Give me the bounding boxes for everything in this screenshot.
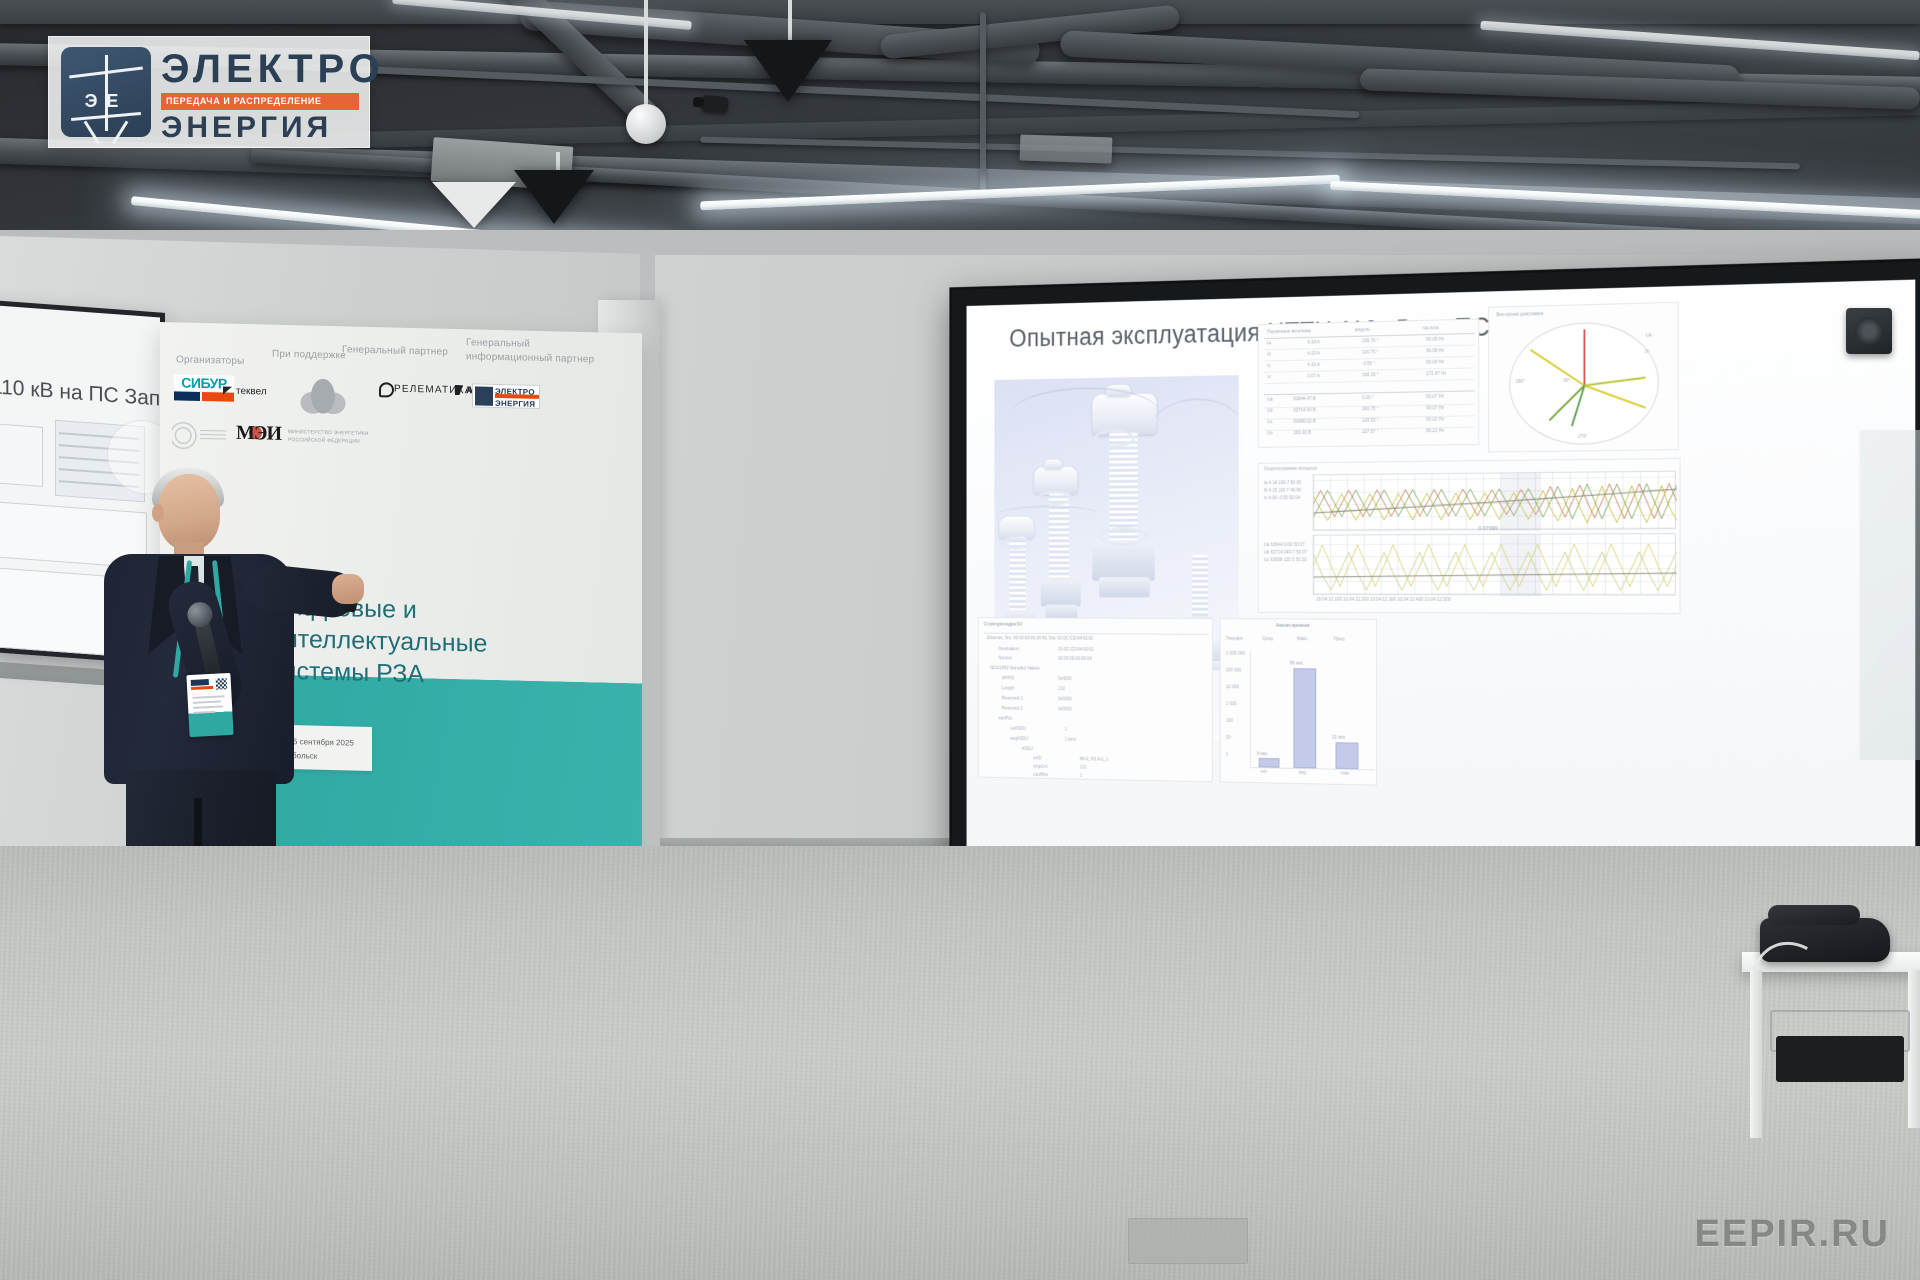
logo-strip: ПЕРЕДАЧА И РАСПРЕДЕЛЕНИЕ	[161, 93, 359, 110]
label-info-partner-line1: Генеральный	[466, 337, 530, 350]
bar-max	[1336, 742, 1359, 769]
oscillogram-top	[1313, 471, 1676, 531]
oscillogram-bottom	[1313, 533, 1676, 595]
phasor-vector-uc	[1584, 385, 1646, 409]
pendant-lamp	[626, 104, 666, 144]
logo-ministry-emblem	[300, 373, 346, 430]
logo-ee-monogram	[475, 386, 493, 405]
left-display-title: 110 кВ на ПС ЗапСиб-2	[0, 375, 165, 416]
glass-partition	[1858, 430, 1920, 760]
protocol-tree-panel: Структура кадра SV Ethernet, Src: 00:00:…	[978, 617, 1213, 782]
pendant-rod	[644, 0, 648, 106]
logo-line2: ЭНЕРГИЯ	[161, 113, 332, 143]
photo-scene: 110 кВ на ПС ЗапСиб-2 Опытная эксплуатац…	[0, 0, 1920, 1280]
speaker-hand-right	[332, 574, 364, 604]
phasor-vector-ia	[1584, 377, 1645, 387]
phasor-vector-ua	[1584, 329, 1586, 385]
label-general-partner: Генеральный партнер	[342, 344, 448, 357]
pendant-diffuser	[432, 182, 516, 228]
speaker-head	[158, 474, 220, 550]
logo-tekvel: теквел	[236, 386, 267, 398]
bar-min	[1259, 758, 1280, 768]
pendant-speaker	[514, 170, 594, 224]
logo-organizer-secondary	[172, 418, 212, 453]
brand-logo-watermark: ЭЕ ЭЛЕКТРО ПЕРЕДАЧА И РАСПРЕДЕЛЕНИЕ ЭНЕР…	[48, 36, 370, 148]
logo-electro-energy: ЭЛЕКТРО ЭНЕРГИЯ	[472, 383, 540, 409]
floor-hatch	[1128, 1218, 1248, 1264]
logo-strip-text: ПЕРЕДАЧА И РАСПРЕДЕЛЕНИЕ	[166, 96, 322, 106]
logo-monogram-tile: ЭЕ	[61, 47, 151, 137]
badge-qr-code	[216, 678, 228, 690]
oscillogram-panel: Осциллограмма процесса Ia 4.18 236.7 50.…	[1258, 458, 1681, 614]
led-strip-light	[1480, 21, 1920, 61]
logo-ee-line2: ЭНЕРГИЯ	[495, 399, 535, 409]
wall-speaker	[1846, 308, 1892, 354]
bar-avg	[1293, 668, 1316, 768]
phasor-vector-ub	[1530, 349, 1585, 386]
label-info-partner-line2: информационный партнер	[466, 351, 594, 365]
projection-screen: Опытная эксплуатация ЦТТН 110 кВ на ПС З…	[949, 258, 1920, 898]
logo-ministry-line2: РОССИЙСКОЙ ФЕДЕРАЦИИ	[288, 437, 360, 445]
logo-ministry-line1: МИНИСТЕРСТВО ЭНЕРГЕТИКИ	[288, 429, 369, 437]
logo-monogram-text: ЭЕ	[85, 91, 128, 112]
logo-line1: ЭЛЕКТРО	[161, 49, 385, 89]
site-watermark: EEPIR.RU	[1695, 1213, 1890, 1256]
security-camera	[701, 95, 729, 114]
label-organizers: Организаторы	[176, 354, 245, 367]
phasor-diagram: 0° 180° 270° 90°	[1509, 321, 1659, 446]
logo-mei: МЭИ	[236, 422, 281, 446]
ceiling-equipment-box	[1020, 134, 1113, 163]
projected-slide: Опытная эксплуатация ЦТТН 110 кВ на ПС З…	[967, 280, 1916, 873]
bar-chart-panel: Анализ времени Текущее Сред. Макс. Пред.…	[1220, 618, 1377, 785]
label-support: При поддержке	[272, 349, 346, 362]
speaker-badge	[186, 673, 233, 737]
floor-texture	[0, 846, 1920, 1280]
measurements-table: Первичные величины модуль частота Ia4.18…	[1258, 319, 1479, 448]
phasor-panel: Векторная диаграмма Ua 0° 180° 270° 90°	[1488, 302, 1678, 453]
pendant-speaker	[744, 40, 832, 102]
ceiling-pipe	[980, 12, 986, 192]
speaker-ear	[152, 504, 164, 522]
under-desk-equipment	[1776, 1036, 1904, 1082]
